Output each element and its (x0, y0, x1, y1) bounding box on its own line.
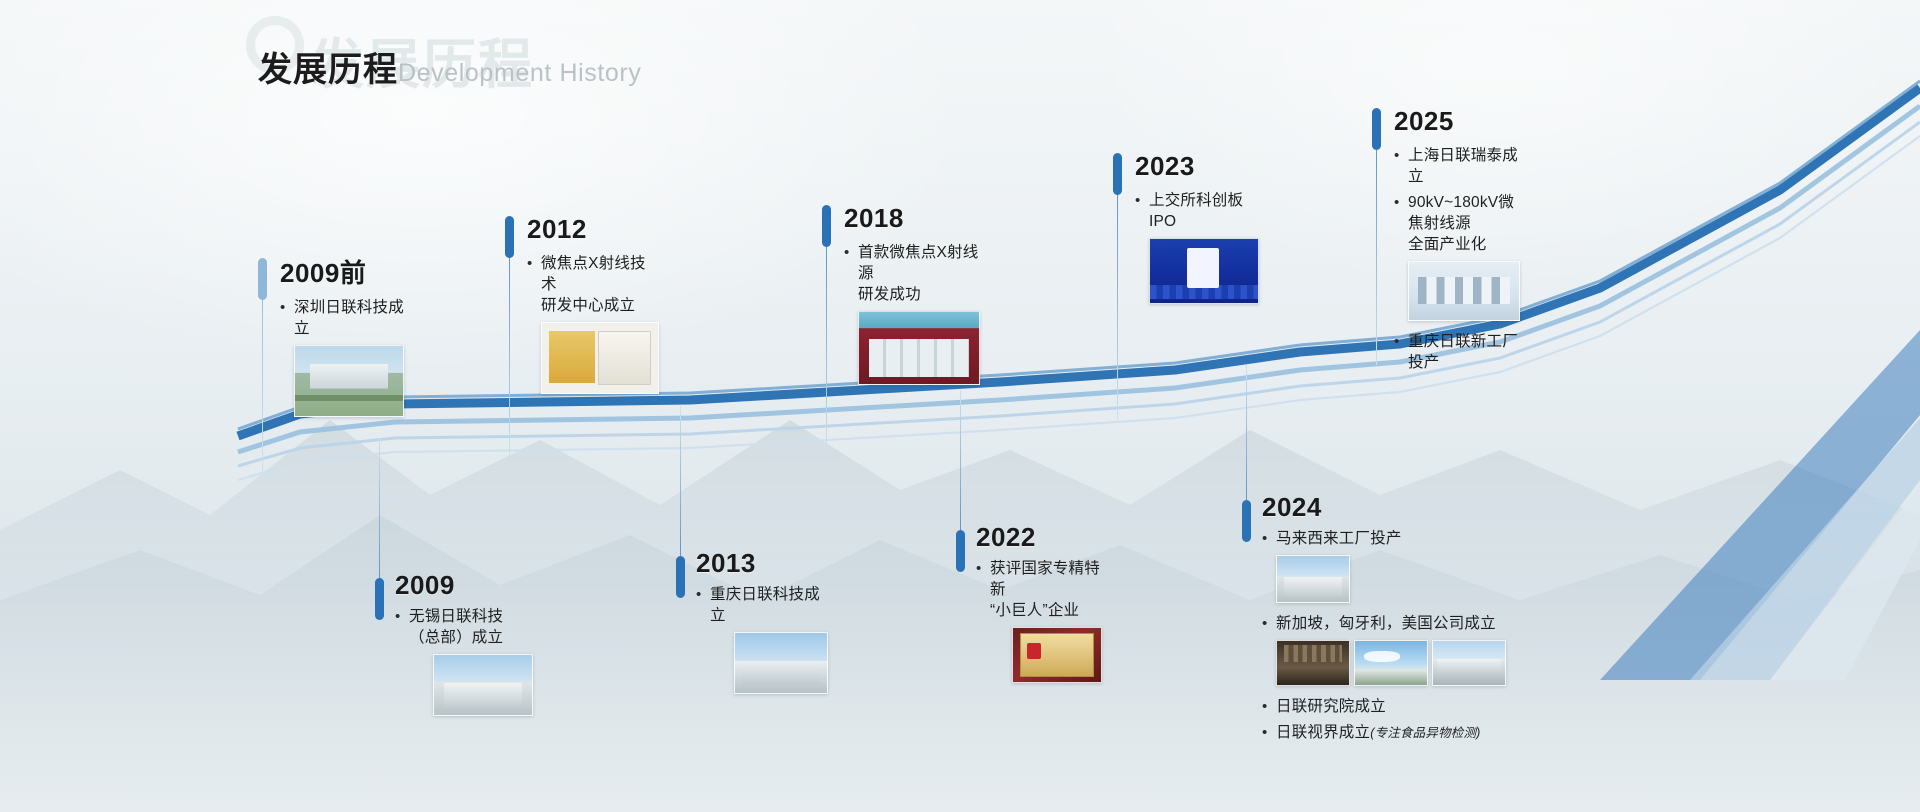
bullet-item: • 重庆日联科技成立 (696, 584, 828, 626)
node-year: 2025 (1394, 108, 1520, 134)
node-marker (258, 258, 267, 300)
chongqing-plant-photo (734, 632, 828, 694)
node-bullets-after: • 重庆日联新工厂投产 (1394, 331, 1520, 373)
node-stem (1246, 365, 1247, 500)
ipo-ceremony-photo (1149, 238, 1259, 304)
bullet-text: 马来西来工厂投产 (1276, 528, 1402, 549)
node-marker (1242, 500, 1251, 542)
bullet-text: 微焦点X射线技术 研发中心成立 (541, 253, 659, 316)
bullet-text: 90kV~180kV微焦射线源 全面产业化 (1408, 192, 1520, 255)
bullet-text: 新加坡，匈牙利，美国公司成立 (1276, 613, 1496, 634)
usa-office-photo (1432, 640, 1506, 686)
microfocus-source-team-photo (858, 311, 980, 385)
bullet-item: • 日联研究院成立 (1262, 696, 1506, 717)
bullet-dot-icon: • (1262, 696, 1276, 717)
bullet-dot-icon: • (1135, 190, 1149, 211)
node-marker (505, 216, 514, 258)
node-thumbnails (858, 311, 980, 385)
node-bullets: • 上海日联瑞泰成立 • 90kV~180kV微焦射线源 全面产业化 (1394, 145, 1520, 255)
bullet-item: • 新加坡，匈牙利，美国公司成立 (1262, 613, 1506, 634)
node-thumbnails-overseas (1276, 640, 1506, 686)
node-thumbnails (294, 345, 404, 417)
bullet-subnote: (专注食品异物检测) (1370, 726, 1480, 740)
node-bullets: • 获评国家专精特新 “小巨人”企业 (976, 558, 1102, 621)
node-stem (826, 247, 827, 452)
bullet-dot-icon: • (1394, 331, 1408, 352)
bullet-item: • 深圳日联科技成立 (280, 297, 404, 339)
bullet-dot-icon: • (844, 242, 858, 263)
bullet-dot-icon: • (976, 558, 990, 579)
node-bullets-3: • 日联研究院成立 • 日联视界成立(专注食品异物检测) (1262, 696, 1506, 744)
bullet-text: 重庆日联科技成立 (710, 584, 828, 626)
bullet-dot-icon: • (527, 253, 541, 274)
node-stem (262, 300, 263, 474)
xray-source-products-photo (1408, 261, 1520, 321)
malaysia-plant-photo (1276, 555, 1350, 603)
node-marker (1113, 153, 1122, 195)
page-subtitle: Development History (398, 59, 641, 88)
bullet-text: 日联研究院成立 (1276, 696, 1386, 717)
node-marker (1372, 108, 1381, 150)
bullet-item: • 首款微焦点X射线源 研发成功 (844, 242, 980, 305)
node-year: 2012 (527, 216, 659, 242)
node-stem (680, 406, 681, 556)
bullet-text: 上海日联瑞泰成立 (1408, 145, 1520, 187)
node-marker (676, 556, 685, 598)
node-bullets: • 上交所科创板IPO (1135, 190, 1259, 232)
bullet-dot-icon: • (280, 297, 294, 318)
node-stem (1376, 150, 1377, 365)
page-title-block: 发展历程 发展历程 Development History (258, 42, 641, 91)
node-year: 2018 (844, 205, 980, 231)
bullet-dot-icon: • (1262, 528, 1276, 549)
node-thumbnails (541, 322, 659, 394)
bullet-text: 无锡日联科技（总部）成立 (409, 606, 533, 648)
node-stem (379, 438, 380, 578)
node-thumbnails (433, 654, 533, 716)
bullet-dot-icon: • (1394, 145, 1408, 166)
bullet-text: 获评国家专精特新 “小巨人”企业 (990, 558, 1102, 621)
node-year: 2022 (976, 524, 1102, 550)
page-title: 发展历程 (258, 42, 398, 91)
bullet-item: • 重庆日联新工厂投产 (1394, 331, 1520, 373)
node-year: 2024 (1262, 494, 1506, 520)
rnd-center-certificates-photo (541, 322, 659, 394)
node-marker (822, 205, 831, 247)
node-bullets: • 马来西来工厂投产 (1262, 528, 1506, 549)
bullet-dot-icon: • (1394, 192, 1408, 213)
node-thumbnails (1408, 261, 1520, 321)
hungary-office-photo (1354, 640, 1428, 686)
singapore-office-photo (1276, 640, 1350, 686)
wuxi-headquarters-photo (433, 654, 533, 716)
bullet-dot-icon: • (1262, 722, 1276, 743)
node-year: 2009前 (280, 260, 404, 286)
bullet-text: 日联视界成立(专注食品异物检测) (1276, 722, 1481, 744)
bullet-item: • 获评国家专精特新 “小巨人”企业 (976, 558, 1102, 621)
node-bullets: • 深圳日联科技成立 (280, 297, 404, 339)
node-thumbnails (734, 632, 828, 694)
node-thumbnails (1149, 238, 1259, 304)
node-marker (956, 530, 965, 572)
node-thumbnails (1012, 627, 1102, 683)
node-year: 2013 (696, 550, 828, 576)
bullet-text: 深圳日联科技成立 (294, 297, 404, 339)
node-marker (375, 578, 384, 620)
node-year: 2023 (1135, 153, 1259, 179)
bullet-item: • 日联视界成立(专注食品异物检测) (1262, 722, 1506, 744)
node-stem (1117, 195, 1118, 420)
node-year: 2009 (395, 572, 533, 598)
bullet-dot-icon: • (1262, 613, 1276, 634)
node-thumbnails-malaysia (1276, 555, 1506, 603)
bullet-text: 上交所科创板IPO (1149, 190, 1259, 232)
bullet-item: • 90kV~180kV微焦射线源 全面产业化 (1394, 192, 1520, 255)
bullet-dot-icon: • (696, 584, 710, 605)
node-bullets: • 无锡日联科技（总部）成立 (395, 606, 533, 648)
node-bullets: • 首款微焦点X射线源 研发成功 (844, 242, 980, 305)
bullet-item: • 上交所科创板IPO (1135, 190, 1259, 232)
node-bullets: • 微焦点X射线技术 研发中心成立 (527, 253, 659, 316)
little-giant-award-plaque-photo (1012, 627, 1102, 683)
bullet-text: 重庆日联新工厂投产 (1408, 331, 1520, 373)
node-stem (960, 390, 961, 530)
shenzhen-campus-photo (294, 345, 404, 417)
bullet-item: • 微焦点X射线技术 研发中心成立 (527, 253, 659, 316)
bullet-item: • 上海日联瑞泰成立 (1394, 145, 1520, 187)
bullet-item: • 马来西来工厂投产 (1262, 528, 1506, 549)
node-bullets: • 重庆日联科技成立 (696, 584, 828, 626)
bullet-item: • 无锡日联科技（总部）成立 (395, 606, 533, 648)
node-bullets-2: • 新加坡，匈牙利，美国公司成立 (1262, 613, 1506, 634)
node-stem (509, 258, 510, 458)
bullet-text: 首款微焦点X射线源 研发成功 (858, 242, 980, 305)
bullet-dot-icon: • (395, 606, 409, 627)
